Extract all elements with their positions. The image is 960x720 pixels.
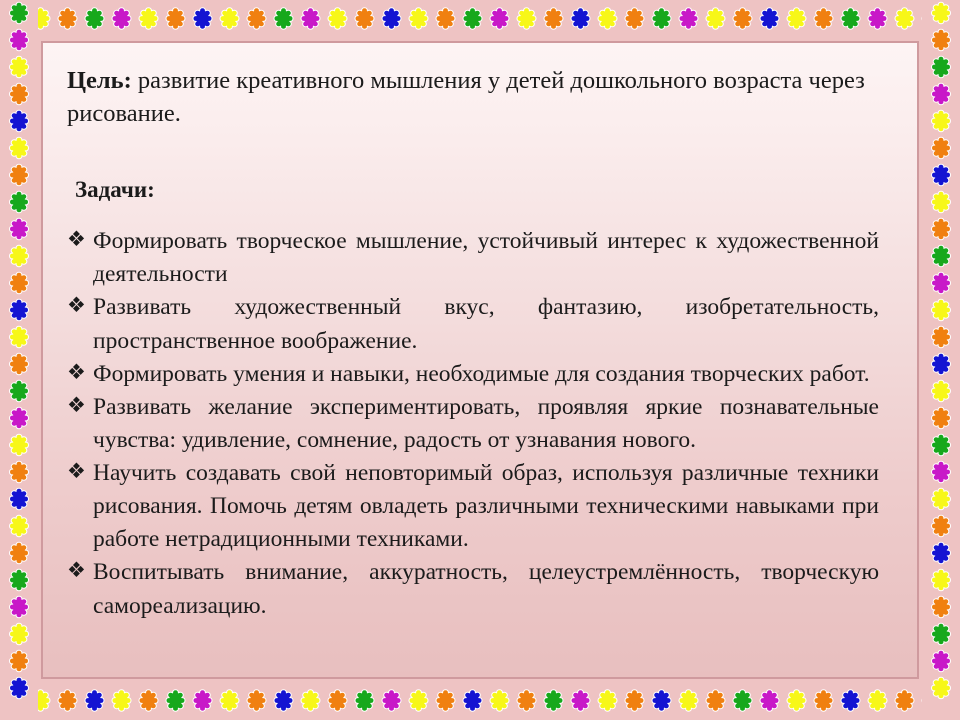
puzzle-piece-icon: [929, 298, 954, 323]
puzzle-piece-icon: [919, 7, 944, 32]
puzzle-piece-icon: [7, 406, 32, 431]
puzzle-piece-icon: [676, 689, 701, 714]
puzzle-piece-icon: [352, 689, 377, 714]
puzzle-piece-icon: [379, 689, 404, 714]
puzzle-piece-icon: [1, 7, 26, 32]
puzzle-row-top: [0, 6, 960, 33]
puzzle-row-bottom: [0, 688, 960, 715]
puzzle-piece-icon: [649, 689, 674, 714]
puzzle-piece-icon: [784, 689, 809, 714]
puzzle-piece-icon: [271, 689, 296, 714]
puzzle-piece-icon: [929, 271, 954, 296]
puzzle-piece-icon: [325, 689, 350, 714]
puzzle-piece-icon: [865, 7, 890, 32]
puzzle-piece-icon: [190, 689, 215, 714]
puzzle-piece-icon: [7, 55, 32, 80]
puzzle-piece-icon: [929, 163, 954, 188]
puzzle-piece-icon: [7, 379, 32, 404]
puzzle-row-left: [6, 0, 33, 702]
puzzle-piece-icon: [929, 649, 954, 674]
puzzle-piece-icon: [190, 7, 215, 32]
puzzle-piece-icon: [244, 7, 269, 32]
puzzle-piece-icon: [784, 7, 809, 32]
puzzle-piece-icon: [838, 7, 863, 32]
puzzle-piece-icon: [514, 7, 539, 32]
puzzle-piece-icon: [929, 595, 954, 620]
puzzle-piece-icon: [838, 689, 863, 714]
puzzle-piece-icon: [7, 109, 32, 134]
puzzle-piece-icon: [541, 689, 566, 714]
puzzle-piece-icon: [7, 271, 32, 296]
puzzle-piece-icon: [325, 7, 350, 32]
puzzle-piece-icon: [28, 689, 53, 714]
puzzle-piece-icon: [163, 7, 188, 32]
puzzle-piece-icon: [7, 622, 32, 647]
puzzle-piece-icon: [919, 689, 944, 714]
puzzle-piece-icon: [28, 7, 53, 32]
puzzle-row-right: [928, 0, 955, 702]
puzzle-piece-icon: [109, 7, 134, 32]
puzzle-piece-icon: [929, 568, 954, 593]
puzzle-piece-icon: [7, 217, 32, 242]
puzzle-piece-icon: [163, 689, 188, 714]
puzzle-piece-icon: [136, 689, 161, 714]
puzzle-piece-icon: [298, 7, 323, 32]
puzzle-piece-icon: [811, 7, 836, 32]
puzzle-piece-icon: [7, 1, 32, 26]
puzzle-piece-icon: [929, 379, 954, 404]
puzzle-piece-icon: [929, 136, 954, 161]
slide-root: Цель: развитие креативного мышления у де…: [0, 0, 960, 720]
puzzle-piece-icon: [271, 7, 296, 32]
puzzle-piece-icon: [757, 689, 782, 714]
puzzle-piece-icon: [298, 689, 323, 714]
puzzle-piece-icon: [379, 7, 404, 32]
puzzle-piece-icon: [55, 7, 80, 32]
puzzle-piece-icon: [217, 7, 242, 32]
puzzle-piece-icon: [929, 325, 954, 350]
puzzle-piece-icon: [892, 689, 917, 714]
puzzle-piece-icon: [929, 622, 954, 647]
puzzle-piece-icon: [649, 7, 674, 32]
puzzle-piece-icon: [703, 7, 728, 32]
puzzle-piece-icon: [7, 298, 32, 323]
puzzle-piece-icon: [7, 352, 32, 377]
puzzle-piece-icon: [622, 689, 647, 714]
puzzle-piece-icon: [568, 7, 593, 32]
puzzle-piece-icon: [406, 689, 431, 714]
puzzle-piece-icon: [929, 541, 954, 566]
puzzle-piece-icon: [929, 190, 954, 215]
puzzle-piece-icon: [7, 595, 32, 620]
puzzle-piece-icon: [929, 109, 954, 134]
puzzle-piece-icon: [487, 689, 512, 714]
puzzle-piece-icon: [929, 55, 954, 80]
puzzle-piece-icon: [460, 689, 485, 714]
puzzle-piece-icon: [622, 7, 647, 32]
puzzle-piece-icon: [55, 689, 80, 714]
puzzle-piece-icon: [487, 7, 512, 32]
puzzle-piece-icon: [82, 7, 107, 32]
puzzle-piece-icon: [541, 7, 566, 32]
puzzle-piece-icon: [7, 460, 32, 485]
puzzle-piece-icon: [109, 689, 134, 714]
puzzle-piece-icon: [929, 1, 954, 26]
puzzle-piece-icon: [7, 82, 32, 107]
puzzle-piece-icon: [703, 689, 728, 714]
puzzle-piece-icon: [929, 514, 954, 539]
puzzle-piece-icon: [865, 689, 890, 714]
puzzle-piece-icon: [1, 689, 26, 714]
puzzle-piece-icon: [433, 689, 458, 714]
puzzle-piece-icon: [929, 82, 954, 107]
puzzle-piece-icon: [7, 28, 32, 53]
puzzle-piece-icon: [406, 7, 431, 32]
puzzle-piece-icon: [433, 7, 458, 32]
puzzle-piece-icon: [946, 689, 960, 714]
puzzle-piece-icon: [7, 649, 32, 674]
frame-rule-inner: [41, 41, 919, 679]
puzzle-piece-icon: [7, 163, 32, 188]
puzzle-piece-icon: [136, 7, 161, 32]
puzzle-piece-icon: [929, 433, 954, 458]
puzzle-piece-icon: [929, 460, 954, 485]
puzzle-piece-icon: [929, 406, 954, 431]
puzzle-piece-icon: [7, 190, 32, 215]
puzzle-piece-icon: [892, 7, 917, 32]
puzzle-piece-icon: [514, 689, 539, 714]
puzzle-piece-icon: [244, 689, 269, 714]
puzzle-piece-icon: [460, 7, 485, 32]
puzzle-piece-icon: [929, 244, 954, 269]
puzzle-piece-icon: [7, 433, 32, 458]
puzzle-piece-icon: [929, 217, 954, 242]
puzzle-piece-icon: [730, 7, 755, 32]
puzzle-piece-icon: [7, 325, 32, 350]
puzzle-piece-icon: [7, 136, 32, 161]
puzzle-piece-icon: [929, 352, 954, 377]
puzzle-piece-icon: [929, 487, 954, 512]
puzzle-piece-icon: [757, 7, 782, 32]
puzzle-piece-icon: [595, 689, 620, 714]
puzzle-piece-icon: [811, 689, 836, 714]
puzzle-piece-icon: [217, 689, 242, 714]
puzzle-piece-icon: [7, 568, 32, 593]
puzzle-piece-icon: [595, 7, 620, 32]
puzzle-piece-icon: [929, 676, 954, 701]
puzzle-piece-icon: [7, 676, 32, 701]
puzzle-piece-icon: [7, 541, 32, 566]
puzzle-piece-icon: [7, 514, 32, 539]
puzzle-piece-icon: [676, 7, 701, 32]
puzzle-piece-icon: [7, 487, 32, 512]
puzzle-piece-icon: [946, 7, 960, 32]
puzzle-piece-icon: [82, 689, 107, 714]
puzzle-piece-icon: [730, 689, 755, 714]
puzzle-piece-icon: [568, 689, 593, 714]
puzzle-piece-icon: [929, 28, 954, 53]
puzzle-piece-icon: [7, 244, 32, 269]
puzzle-piece-icon: [352, 7, 377, 32]
